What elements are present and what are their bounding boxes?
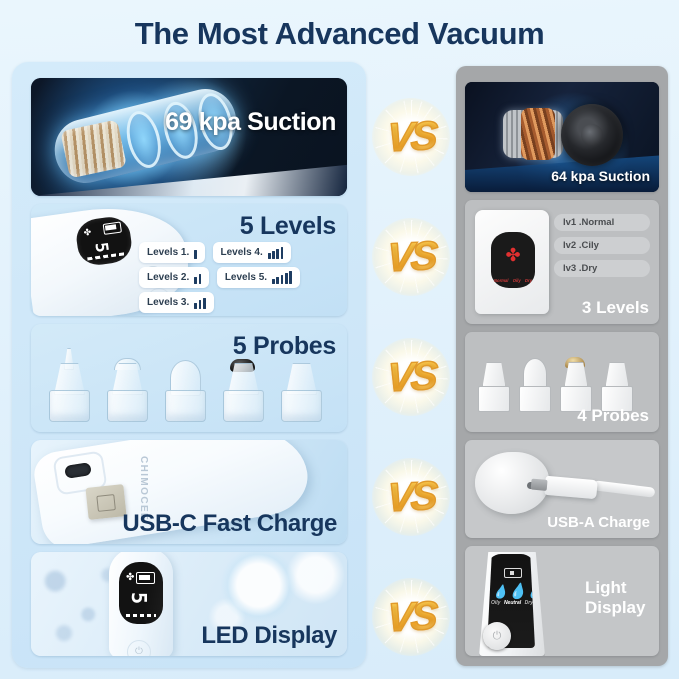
vs-label: VS (370, 96, 452, 178)
competitor-level-chip: lv2 .Cily (554, 237, 650, 254)
probe-base-icon (49, 390, 90, 422)
our-probes-card: 5 Probes (31, 324, 347, 432)
probe-base-icon (165, 390, 206, 422)
screen-mode-label: Oily (513, 278, 521, 283)
vs-label: VS (370, 336, 452, 418)
level-bars-icon (194, 246, 197, 259)
motor-coil-graphic (60, 119, 127, 178)
probe-item (163, 356, 206, 422)
competitor-charge-card: USB-A Charge (465, 440, 659, 538)
level-chip-label: Levels 4. (221, 247, 263, 258)
competitor-display-card: 💧 💧 💧 Oily Neutral Dry ⏻ Light Display (465, 546, 659, 656)
probe-item (47, 356, 90, 422)
level-bars-icon (268, 246, 284, 259)
competitor-column: 64 kpa Suction ✤ Normal Oily Dry lv1 .No… (456, 66, 668, 666)
level-chip-label: Levels 1. (147, 247, 189, 258)
led-value: 5 (127, 592, 151, 604)
level-chip: Levels 2. (139, 267, 209, 288)
screen-mode-labels: Normal Oily Dry (494, 278, 532, 283)
drop-icons: 💧 💧 💧 (492, 582, 532, 600)
level-chip: Levels 1. (139, 242, 205, 263)
vs-badge: VS (372, 338, 450, 416)
probe-item (221, 356, 264, 422)
our-product-column: 69 kpa Suction ✤ 5 ⏻ 5 Levels Levels 1. … (12, 62, 366, 668)
led-screen: ✤ 5 (119, 562, 163, 624)
competitor-display-title-line2: Display (585, 598, 645, 617)
fan-icon: ✤ (126, 573, 134, 583)
level-value: 5 (90, 241, 111, 254)
our-levels-chip-grid: Levels 1. Levels 4. Levels 2. Levels 5. … (139, 242, 339, 316)
competitor-probes-row (477, 356, 632, 412)
fan-icon: ✤ (83, 228, 93, 238)
our-charge-card: CHIMOCEE USB-C Fast Charge (31, 440, 347, 544)
our-suction-label: 69 kpa Suction (165, 108, 336, 137)
level-chip: Levels 3. (139, 292, 214, 313)
competitor-level-chips: lv1 .Normal lv2 .Cily lv3 .Dry (554, 214, 650, 283)
power-button-icon: ⏻ (483, 622, 511, 650)
copper-winding-graphic (521, 108, 555, 160)
competitor-suction-card: 64 kpa Suction (465, 82, 659, 192)
screen-mode-label: Neutral (504, 600, 521, 606)
infographic-page: The Most Advanced Vacuum 69 kpa Suction … (0, 0, 679, 679)
competitor-levels-title: 3 Levels (582, 298, 649, 318)
probe-base-icon (281, 390, 322, 422)
probe-base-icon (478, 386, 510, 412)
our-suction-card: 69 kpa Suction (31, 78, 347, 196)
usb-cable-graphic (593, 480, 656, 497)
vs-column: VS VS VS VS VS (366, 62, 456, 668)
vs-badge: VS (372, 98, 450, 176)
screen-mode-label: Dry (525, 600, 533, 606)
competitor-probes-card: 4 Probes (465, 332, 659, 432)
rotor-graphic (561, 104, 623, 166)
drop-icon: 💧 (508, 582, 527, 600)
level-bars-icon (194, 271, 201, 284)
competitor-level-chip: lv3 .Dry (554, 260, 650, 277)
fan-icon: ✤ (504, 246, 522, 264)
motor-ring-icon (121, 108, 166, 172)
competitor-display-title: Light Display (585, 578, 649, 618)
our-display-card: ✤ 5 ⏻ LED Display (31, 552, 347, 656)
level-chip: Levels 5. (217, 267, 300, 288)
competitor-levels-card: ✤ Normal Oily Dry lv1 .Normal lv2 .Cily … (465, 200, 659, 324)
vs-badge: VS (372, 578, 450, 656)
screen-mode-labels: Oily Neutral Dry (491, 600, 533, 606)
our-display-title: LED Display (201, 622, 337, 650)
page-title: The Most Advanced Vacuum (0, 16, 679, 52)
level-chip-label: Levels 3. (147, 297, 189, 308)
screen-mode-label: Dry (525, 278, 532, 283)
screen-mode-label: Normal (494, 278, 508, 283)
usb-a-plug-icon (544, 476, 597, 499)
motor-image (31, 78, 347, 196)
vs-badge: VS (372, 218, 450, 296)
vs-label: VS (370, 216, 452, 298)
battery-icon (103, 222, 122, 235)
level-chip-label: Levels 2. (147, 272, 189, 283)
our-charge-title: USB-C Fast Charge (122, 510, 337, 538)
probe-base-icon (519, 386, 551, 412)
probe-base-icon (223, 390, 264, 422)
competitor-device-screen: ✤ Normal Oily Dry (491, 232, 535, 288)
battery-icon (136, 572, 155, 584)
our-levels-title: 5 Levels (240, 212, 336, 241)
probe-base-icon (107, 390, 148, 422)
competitor-display-title-line1: Light (585, 578, 627, 597)
competitor-probes-title: 4 Probes (577, 406, 649, 426)
our-probes-row (47, 356, 322, 422)
competitor-suction-label: 64 kpa Suction (551, 168, 650, 184)
probe-item (518, 356, 550, 412)
level-chip-label: Levels 5. (225, 272, 267, 283)
vs-label: VS (370, 456, 452, 538)
probe-item (105, 356, 148, 422)
competitor-charge-title: USB-A Charge (547, 514, 650, 531)
competitor-device-graphic: ✤ Normal Oily Dry (475, 210, 549, 314)
level-bars-icon (272, 271, 292, 284)
led-dashes-icon (126, 614, 156, 617)
our-levels-card: ✤ 5 ⏻ 5 Levels Levels 1. Levels 4. Level… (31, 204, 347, 316)
screen-mode-label: Oily (491, 600, 500, 606)
probe-item (600, 356, 632, 412)
vs-label: VS (370, 576, 452, 658)
vs-badge: VS (372, 458, 450, 536)
probe-item (477, 356, 509, 412)
usb-plug-graphic (85, 484, 126, 520)
probe-item (279, 356, 322, 422)
level-bars-icon (194, 296, 205, 309)
competitor-level-chip: lv1 .Normal (554, 214, 650, 231)
probe-item (559, 356, 591, 412)
level-chip: Levels 4. (213, 242, 292, 263)
battery-icon (504, 568, 522, 578)
drop-icon: 💧 (492, 584, 508, 600)
